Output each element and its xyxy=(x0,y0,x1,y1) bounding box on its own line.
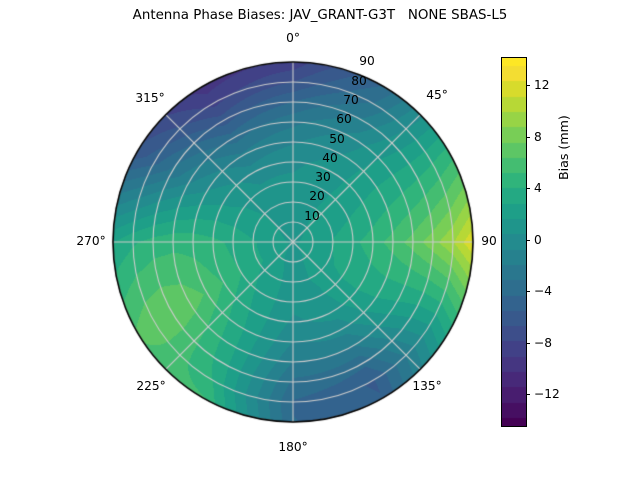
azimuth-label-0: 0° xyxy=(286,31,300,45)
colorbar-tick-label: −8 xyxy=(534,336,552,350)
colorbar-gradient xyxy=(501,57,527,427)
colorbar-tick-mark xyxy=(526,394,530,395)
colorbar-tick-label: 8 xyxy=(534,130,542,144)
azimuth-label-90: 90 xyxy=(481,234,497,248)
colorbar-tick-mark xyxy=(526,188,530,189)
colorbar-tick-label: 0 xyxy=(534,233,542,247)
colorbar-tick-mark xyxy=(526,343,530,344)
colorbar-tick-mark xyxy=(526,291,530,292)
colorbar-tick-label: −12 xyxy=(534,387,560,401)
zenith-label-30: 30 xyxy=(315,170,331,184)
colorbar-tick-label: 12 xyxy=(534,78,550,92)
colorbar-axis-label: Bias (mm) xyxy=(556,115,571,180)
colorbar-tick-mark xyxy=(526,85,530,86)
zenith-label-40: 40 xyxy=(322,151,338,165)
zenith-label-70: 70 xyxy=(343,93,359,107)
zenith-label-10: 10 xyxy=(304,209,320,223)
figure-canvas: Antenna Phase Biases: JAV_GRANT-G3T NONE… xyxy=(0,0,640,480)
zenith-label-20: 20 xyxy=(309,189,325,203)
zenith-label-60: 60 xyxy=(336,112,352,126)
azimuth-label-135: 135° xyxy=(412,379,441,393)
zenith-label-50: 50 xyxy=(329,132,345,146)
colorbar-tick-mark xyxy=(526,137,530,138)
azimuth-label-180: 180° xyxy=(278,440,307,454)
azimuth-label-225: 225° xyxy=(136,379,165,393)
azimuth-label-315: 315° xyxy=(135,91,164,105)
zenith-label-90: 90 xyxy=(359,54,375,68)
colorbar-tick-label: −4 xyxy=(534,284,552,298)
zenith-label-80: 80 xyxy=(351,74,367,88)
colorbar-tick-mark xyxy=(526,240,530,241)
colorbar-tick-label: 4 xyxy=(534,181,542,195)
azimuth-label-45: 45° xyxy=(426,88,448,102)
azimuth-label-270: 270° xyxy=(76,234,105,248)
